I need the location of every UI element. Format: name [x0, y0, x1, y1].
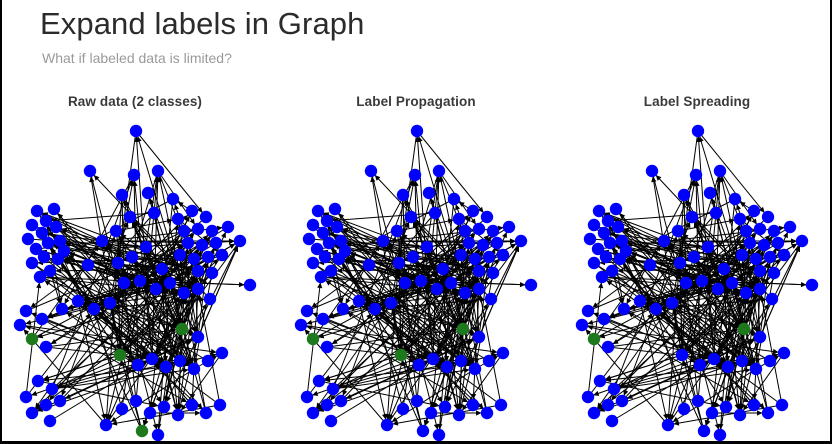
- page-subtitle: What if labeled data is limited?: [42, 50, 232, 66]
- panel-label-propagation: Label Propagation: [283, 86, 549, 444]
- panel-raw-data: Raw data (2 classes): [2, 86, 268, 444]
- graph-plot-label-propagation: [283, 113, 549, 443]
- panel-title-raw-data: Raw data (2 classes): [2, 86, 268, 109]
- panel-label-spreading: Label Spreading: [564, 86, 830, 444]
- graph-panels-row: Raw data (2 classes) Label Propagation L…: [2, 86, 830, 444]
- slide-canvas: Expand labels in Graph What if labeled d…: [0, 0, 832, 444]
- panel-title-label-spreading: Label Spreading: [564, 86, 830, 109]
- network-graph-svg-label-propagation: [283, 113, 549, 443]
- network-graph-svg-label-spreading: [564, 113, 830, 443]
- graph-plot-raw-data: [2, 113, 268, 443]
- page-title: Expand labels in Graph: [40, 6, 364, 42]
- panel-title-label-propagation: Label Propagation: [283, 86, 549, 109]
- network-graph-svg-raw-data: [2, 113, 268, 443]
- graph-plot-label-spreading: [564, 113, 830, 443]
